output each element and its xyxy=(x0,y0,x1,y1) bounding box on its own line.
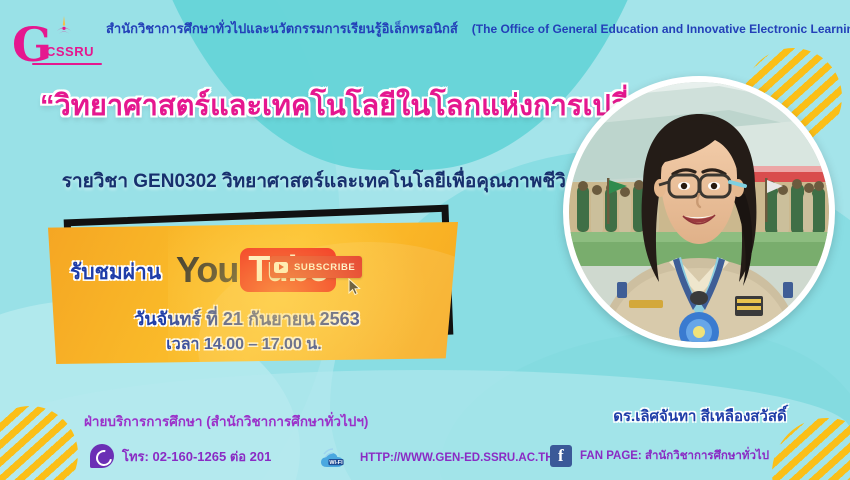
facebook-icon xyxy=(550,445,572,467)
contact-phone-text: โทร: 02-160-1265 ต่อ 201 xyxy=(122,446,271,467)
speaker-name: ดร.เลิศจันทา สีเหลืองสวัสดิ์ xyxy=(560,404,840,428)
page-title: “วิทยาศาสตร์และเทคโนโลยีในโลกแห่งการเปลี… xyxy=(40,86,600,126)
mouse-pointer-icon xyxy=(348,278,361,296)
thai-pagoda-icon xyxy=(53,16,75,42)
organization-name-english: (The Office of General Education and Inn… xyxy=(472,22,850,36)
contact-website[interactable]: WI-FI HTTP://WWW.GEN-ED.SSRU.AC.TH xyxy=(318,445,554,471)
portrait-illustration xyxy=(569,82,829,342)
logo-underline xyxy=(32,63,102,65)
watch-row: รับชมผ่าน You Tube SUBSCRIBE xyxy=(48,242,458,294)
broadcast-date: วันจันทร์ ที่ 21 กันยายน 2563 xyxy=(48,304,446,333)
subscribe-play-icon xyxy=(274,262,288,273)
contact-facebook-text: FAN PAGE: สำนักวิชาการศึกษาทั่วไป xyxy=(580,447,769,465)
watch-via-label: รับชมผ่าน xyxy=(70,256,161,289)
poster-canvas: G CSSRU สำนักวิชาการศึกษาทั่วไปและนวัตกร… xyxy=(0,0,850,480)
viber-phone-icon xyxy=(90,444,114,468)
contact-website-text: HTTP://WWW.GEN-ED.SSRU.AC.TH xyxy=(360,452,554,464)
organization-name-thai: สำนักวิชาการศึกษาทั่วไปและนวัตกรรมการเรี… xyxy=(106,21,458,36)
broadcast-time: เวลา 14.00 – 17.00 น. xyxy=(48,332,440,357)
broadcast-banner: รับชมผ่าน You Tube SUBSCRIBE วันจันทร์ ท… xyxy=(48,222,458,364)
wifi-cloud-icon: WI-FI xyxy=(318,447,352,469)
youtube-you-text: You xyxy=(176,252,238,288)
speaker-photo xyxy=(563,76,835,348)
subscribe-button[interactable]: SUBSCRIBE xyxy=(270,256,362,278)
department-label: ฝ่ายบริการการศึกษา (สำนักวิชาการศึกษาทั่… xyxy=(84,410,368,432)
course-subtitle: รายวิชา GEN0302 วิทยาศาสตร์และเทคโนโลยีเ… xyxy=(40,166,600,196)
gcssru-logo: G CSSRU xyxy=(8,18,116,70)
logo-letter-g: G xyxy=(12,24,50,68)
logo-wordmark: CSSRU xyxy=(46,44,94,59)
svg-text:WI-FI: WI-FI xyxy=(329,460,343,466)
footer-contacts: โทร: 02-160-1265 ต่อ 201 WI-FI HTTP://WW… xyxy=(0,443,850,477)
contact-phone[interactable]: โทร: 02-160-1265 ต่อ 201 xyxy=(90,443,271,469)
contact-facebook[interactable]: FAN PAGE: สำนักวิชาการศึกษาทั่วไป xyxy=(550,443,769,469)
subscribe-label: SUBSCRIBE xyxy=(294,262,355,273)
organization-header: สำนักวิชาการศึกษาทั่วไปและนวัตกรรมการเรี… xyxy=(106,18,846,39)
